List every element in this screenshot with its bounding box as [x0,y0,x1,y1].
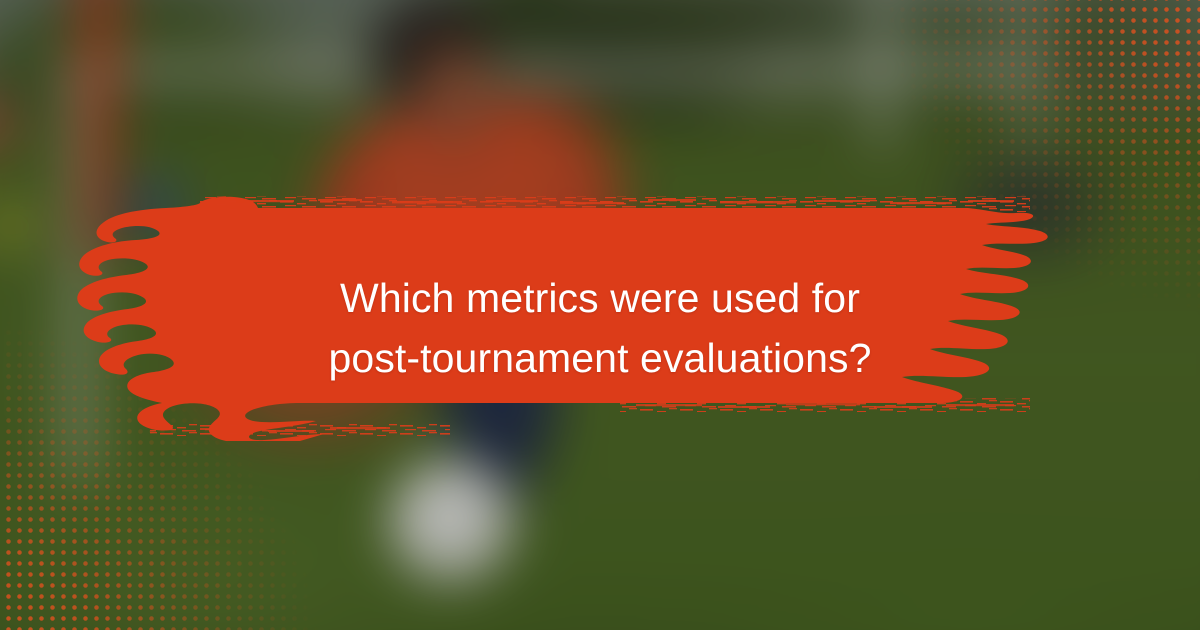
headline-line-1: Which metrics were used for [0,268,1200,328]
headline: Which metrics were used for post-tournam… [0,268,1200,388]
quote-card: Which metrics were used for post-tournam… [0,0,1200,630]
headline-line-2: post-tournament evaluations? [0,328,1200,388]
